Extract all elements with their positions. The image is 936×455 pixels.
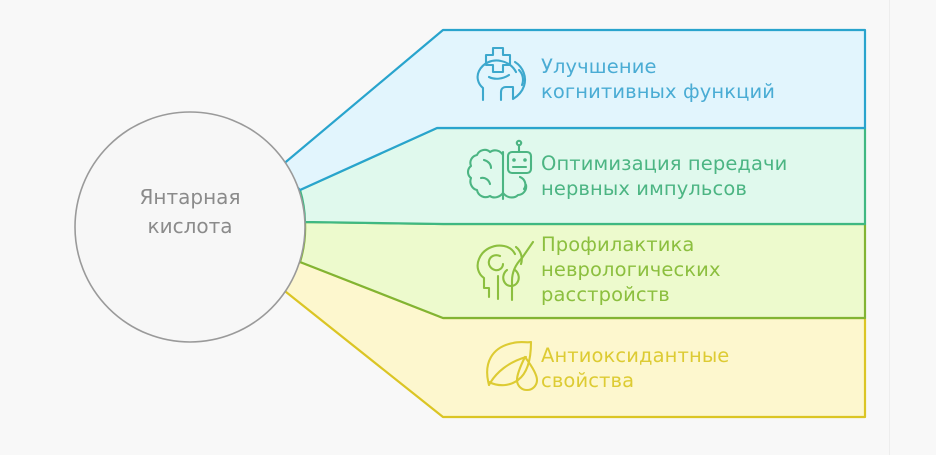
infographic-root: Янтарная кислота Улучшение когнитивных ф… xyxy=(0,0,936,455)
infographic-canvas xyxy=(0,0,936,455)
page-edge-divider xyxy=(889,0,890,455)
hub-circle[interactable] xyxy=(75,112,305,342)
